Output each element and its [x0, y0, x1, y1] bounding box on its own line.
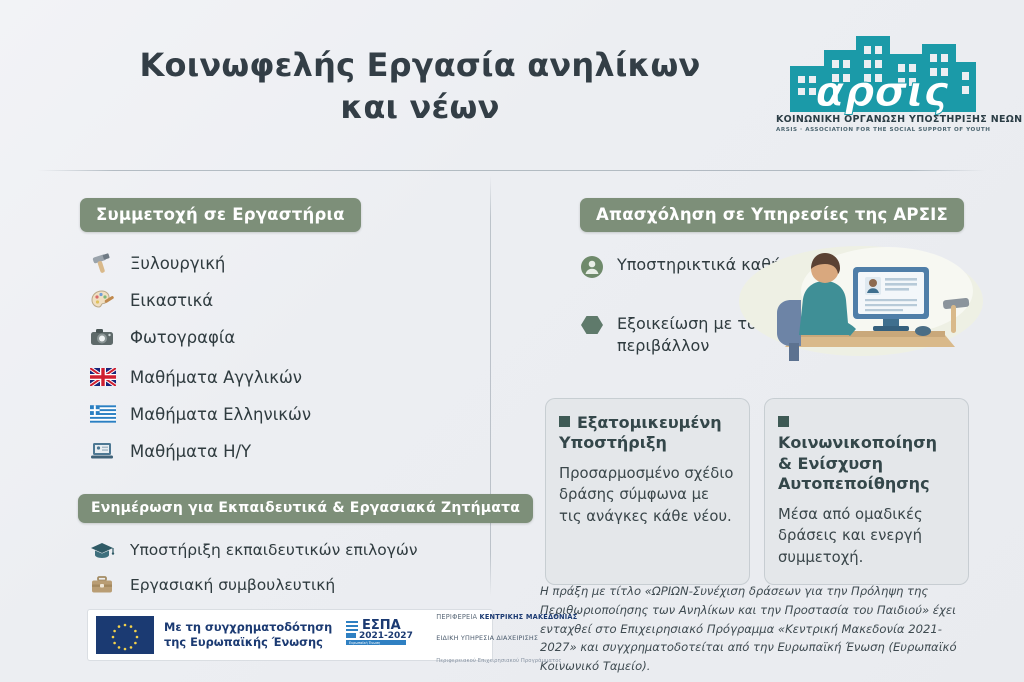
square-bullet-icon [559, 416, 570, 427]
briefcase-icon [88, 572, 118, 598]
benefit-cards: Εξατομικευμένη Υποστήριξη Προσαρμοσμένο … [545, 398, 985, 585]
benefit-card-body: Προσαρμοσμένο σχέδιο δράσης σύμφωνα με τ… [559, 463, 735, 527]
greek-flag-icon [88, 401, 118, 427]
list-item[interactable]: Μαθήματα Η/Υ [78, 438, 498, 464]
workshops-list: Ξυλουργική Εικαστικά [78, 250, 498, 464]
list-item[interactable]: Φωτογραφία [78, 324, 498, 350]
footer-logo-bar: Με τη συγχρηματοδότηση της Ευρωπαϊκής Έν… [88, 610, 492, 660]
hexagon-icon [580, 314, 604, 338]
list-item[interactable]: Εικαστικά [78, 287, 498, 313]
list-item[interactable]: Μαθήματα Αγγλικών [78, 364, 498, 390]
page-header: Κοινωφελής Εργασία ανηλίκων και νέων [0, 0, 1024, 170]
arsis-logo-graphic: αρσις [776, 22, 988, 122]
list-item-label: Ξυλουργική [130, 254, 225, 273]
benefit-card-title: Κοινωνικοποίηση & Ενίσχυση Αυτοπεποίθηση… [778, 413, 954, 495]
region-line-1-bold: ΚΕΝΤΡΙΚΗΣ ΜΑΚΕΔΟΝΙΑΣ [480, 613, 578, 621]
list-item-label: Μαθήματα Ελληνικών [130, 405, 311, 424]
list-item[interactable]: Μαθήματα Ελληνικών [78, 401, 498, 427]
arsis-logo: αρσις ΚΟΙΝΩΝΙΚΗ ΟΡΓΑΝΩΣΗ ΥΠΟΣΤΗΡΙΞΗΣ ΝΕΩ… [776, 22, 988, 150]
arsis-wordmark: αρσις [816, 67, 949, 116]
person-at-desk-computer-illustration [737, 243, 985, 363]
list-item-label: Υποστήριξη εκπαιδευτικών επιλογών [130, 541, 418, 559]
region-line-1: ΠΕΡΙΦΕΡΕΙΑ ΚΕΝΤΡΙΚΗΣ ΜΑΚΕΔΟΝΙΑΣ [436, 613, 577, 621]
list-item-label: Εικαστικά [130, 291, 213, 310]
title-line-1: Κοινωφελής Εργασία ανηλίκων [140, 46, 701, 84]
list-item[interactable]: Εργασιακή συμβουλευτική [78, 572, 498, 598]
square-bullet-icon [778, 416, 789, 427]
list-item[interactable]: Ξυλουργική [78, 250, 498, 276]
page-title: Κοινωφελής Εργασία ανηλίκων και νέων [120, 44, 720, 128]
logo-caption-english: ARSIS · ASSOCIATION FOR THE SOCIAL SUPPO… [776, 127, 988, 133]
logo-caption-greek: ΚΟΙΝΩΝΙΚΗ ΟΡΓΑΝΩΣΗ ΥΠΟΣΤΗΡΙΞΗΣ ΝΕΩΝ [776, 114, 988, 125]
benefit-card-title-text: Εξατομικευμένη Υποστήριξη [559, 413, 722, 452]
eu-flag-icon [96, 616, 154, 654]
laptop-icon [88, 438, 118, 464]
region-line-2: ΕΙΔΙΚΗ ΥΠΗΡΕΣΙΑ ΔΙΑΧΕΙΡΙΣΗΣ [436, 634, 538, 642]
section-info-heading: Ενημέρωση για Εκπαιδευτικά & Εργασιακά Ζ… [78, 494, 533, 523]
title-line-2: και νέων [120, 86, 720, 128]
eu-funding-line-2: της Ευρωπαϊκής Ένωσης [164, 635, 323, 649]
funding-disclaimer: Η πράξη με τίτλο «ΩΡΙΩΝ-Συνέχιση δράσεων… [540, 582, 970, 676]
espa-years: 2021-2027 [359, 631, 413, 641]
camera-icon [88, 324, 118, 350]
eu-funding-text: Με τη συγχρηματοδότηση της Ευρωπαϊκής Έν… [164, 620, 332, 650]
region-line-3: Περιφερειακού Επιχειρησιακού Προγράμματο… [436, 658, 561, 664]
list-item[interactable]: Υποστήριξη εκπαιδευτικών επιλογών [78, 537, 498, 563]
header-divider [38, 170, 986, 171]
benefit-card-socialization[interactable]: Κοινωνικοποίηση & Ενίσχυση Αυτοπεποίθηση… [764, 398, 969, 585]
left-column: Συμμετοχή σε Εργαστήρια Ξυλουργική [78, 198, 498, 642]
section-workshops-header: Συμμετοχή σε Εργαστήρια [80, 198, 498, 232]
palette-icon [88, 287, 118, 313]
list-item-label: Μαθήματα Αγγλικών [130, 368, 302, 387]
list-item-label: Φωτογραφία [130, 328, 235, 347]
person-circle-icon [580, 255, 604, 279]
benefit-card-title-text: Κοινωνικοποίηση & Ενίσχυση Αυτοπεποίθηση… [778, 433, 937, 493]
benefit-card-body: Μέσα από ομαδικές δράσεις και ενεργή συμ… [778, 504, 954, 568]
section-workshops-heading: Συμμετοχή σε Εργαστήρια [80, 198, 361, 232]
uk-flag-icon [88, 364, 118, 390]
graduation-cap-icon [88, 537, 118, 563]
section-employment-header: Απασχόληση σε Υπηρεσίες της ΑΡΣΙΣ [580, 198, 988, 232]
benefit-card-title: Εξατομικευμένη Υποστήριξη [559, 413, 735, 454]
benefit-card-personalized-support[interactable]: Εξατομικευμένη Υποστήριξη Προσαρμοσμένο … [545, 398, 750, 585]
section-employment-heading: Απασχόληση σε Υπηρεσίες της ΑΡΣΙΣ [580, 198, 964, 232]
list-item-label: Εργασιακή συμβουλευτική [130, 576, 335, 594]
espa-tagline: Ευρωπαϊκή Ένωση [349, 641, 380, 645]
section-info-header: Ενημέρωση για Εκπαιδευτικά & Εργασιακά Ζ… [78, 494, 498, 523]
espa-logo: ΕΣΠΑ 2021-2027 Ευρωπαϊκή Ένωση [344, 615, 416, 655]
infographic-page: Κοινωφελής Εργασία ανηλίκων και νέων [0, 0, 1024, 682]
hammer-icon [88, 250, 118, 276]
region-authority-logo: ΠΕΡΙΦΕΡΕΙΑ ΚΕΝΤΡΙΚΗΣ ΜΑΚΕΔΟΝΙΑΣ ΕΙΔΙΚΗ Υ… [436, 603, 577, 668]
eu-funding-line-1: Με τη συγχρηματοδότηση [164, 620, 332, 634]
list-item-label: Μαθήματα Η/Υ [130, 442, 251, 461]
region-line-1-plain: ΠΕΡΙΦΕΡΕΙΑ [436, 613, 479, 621]
